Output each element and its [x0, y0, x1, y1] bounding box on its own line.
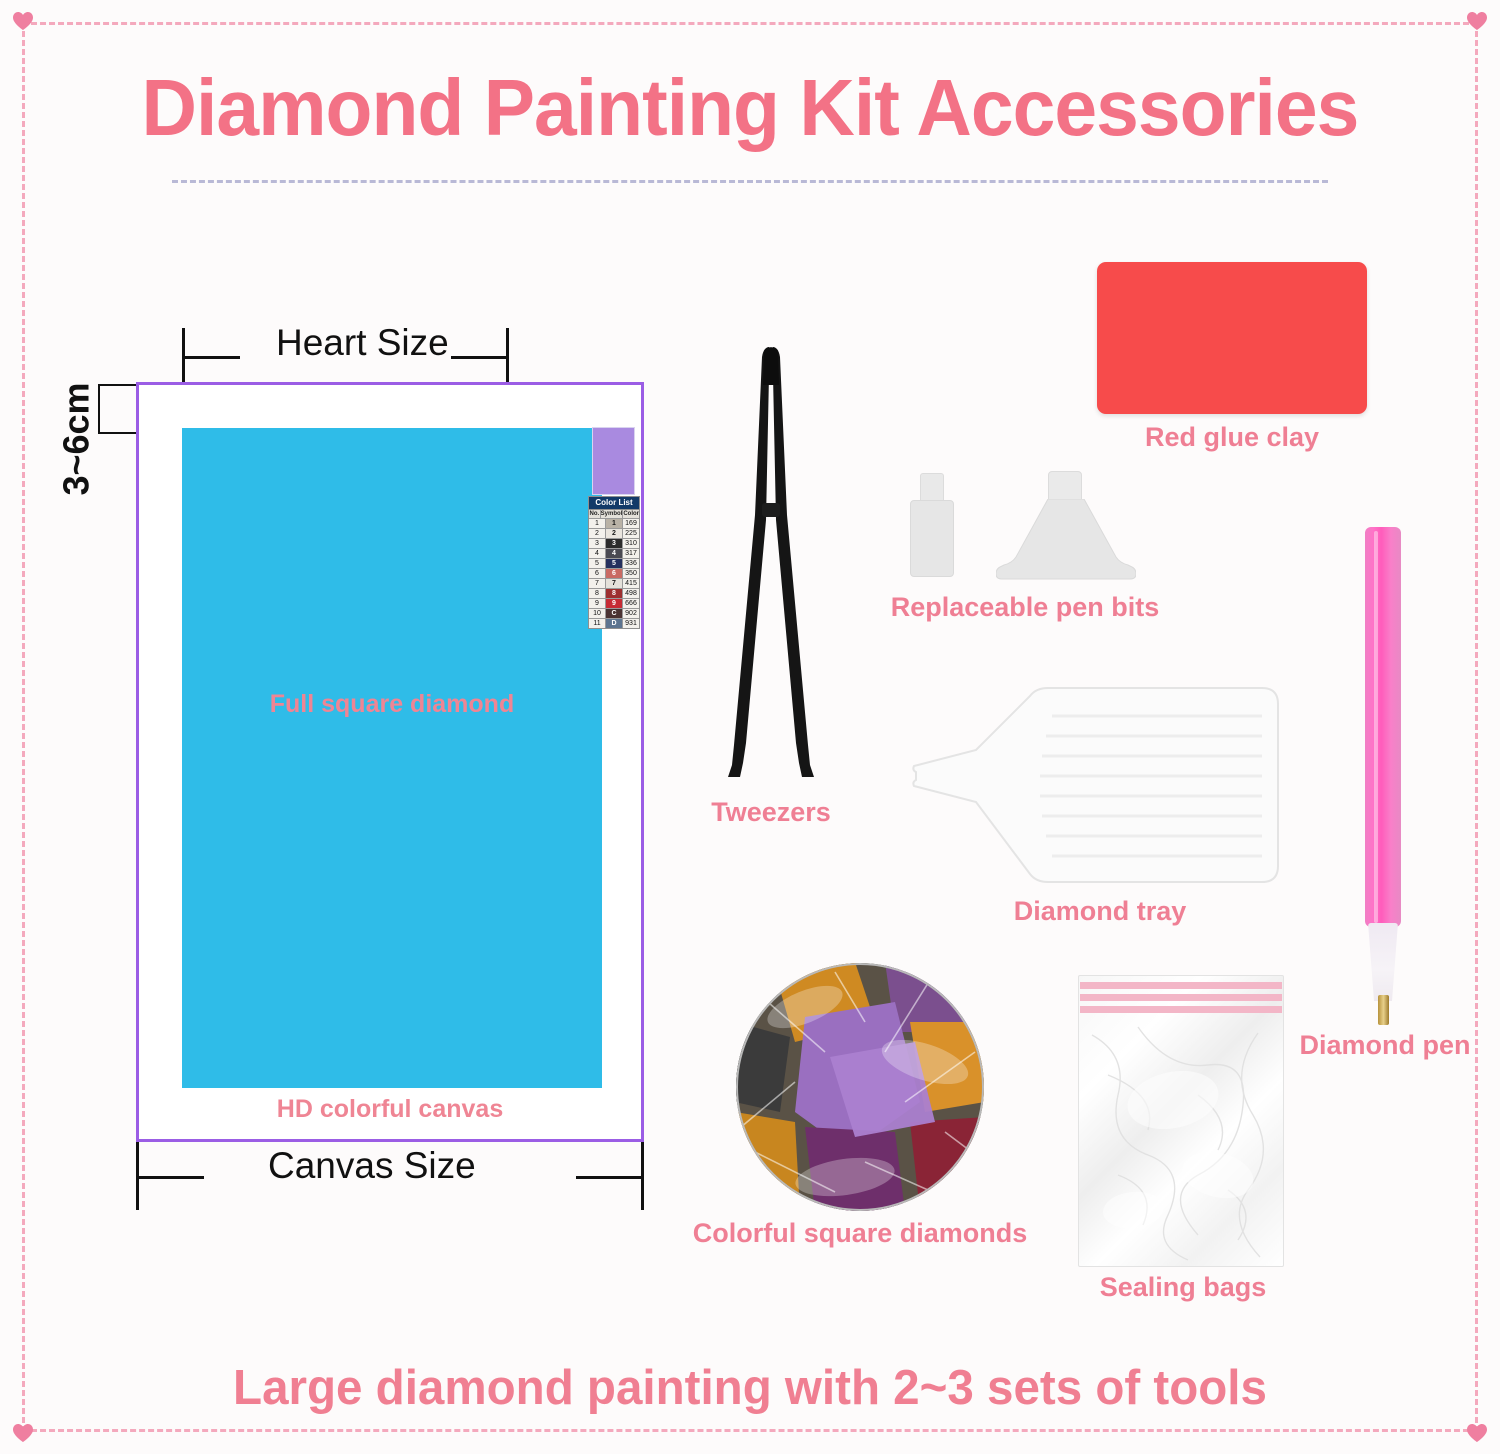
diamond-pen-label: Diamond pen: [1280, 1030, 1490, 1061]
color-row-symbol: 5: [606, 559, 623, 568]
color-row-symbol: 8: [606, 589, 623, 598]
margin-label: 3~6cm: [56, 382, 98, 495]
col-header-color: Color: [623, 510, 639, 518]
color-list-row: 77415: [589, 578, 639, 588]
color-row-no: 9: [589, 599, 606, 608]
red-glue-clay-image: [1097, 262, 1367, 414]
color-row-no: 6: [589, 569, 606, 578]
tweezers-image: [706, 345, 836, 785]
color-row-color: 310: [623, 539, 639, 548]
footer-tagline: Large diamond painting with 2~3 sets of …: [23, 1360, 1478, 1416]
color-list-row: 88498: [589, 588, 639, 598]
page-title: Diamond Painting Kit Accessories: [30, 62, 1470, 154]
color-list-row: 11169: [589, 518, 639, 528]
color-list-row: 66350: [589, 568, 639, 578]
col-header-symbol: Symbol: [601, 510, 624, 518]
color-list-row: 44317: [589, 548, 639, 558]
printed-canvas-area: [182, 428, 602, 1088]
color-row-no: 7: [589, 579, 606, 588]
color-list-row: 22225: [589, 528, 639, 538]
tweezers-label: Tweezers: [706, 797, 836, 828]
color-list-table: Color List No. Symbol Color 111692222533…: [588, 496, 640, 629]
sealing-bags-label: Sealing bags: [1058, 1272, 1308, 1303]
pen-bit-large: [996, 471, 1136, 581]
color-row-no: 1: [589, 519, 606, 528]
col-header-no: No.: [589, 510, 601, 518]
color-list-row: 33310: [589, 538, 639, 548]
canvas-size-label: Canvas Size: [268, 1145, 476, 1187]
full-square-diamond-label: Full square diamond: [182, 690, 602, 719]
pen-bits-label: Replaceable pen bits: [880, 592, 1170, 623]
color-row-no: 4: [589, 549, 606, 558]
color-row-no: 2: [589, 529, 606, 538]
color-row-color: 415: [623, 579, 639, 588]
color-row-symbol: D: [606, 619, 623, 628]
color-row-no: 10: [589, 609, 606, 618]
color-row-symbol: 9: [606, 599, 623, 608]
colorful-square-diamonds-image: [735, 962, 985, 1212]
color-row-no: 8: [589, 589, 606, 598]
color-row-symbol: C: [606, 609, 623, 618]
diamond-tray-label: Diamond tray: [910, 896, 1290, 927]
color-row-color: 498: [623, 589, 639, 598]
color-list-title: Color List: [589, 497, 639, 509]
color-row-color: 931: [623, 619, 639, 628]
color-row-color: 666: [623, 599, 639, 608]
color-row-no: 3: [589, 539, 606, 548]
dim-tick-margin: [98, 384, 100, 434]
heart-icon: [1466, 11, 1488, 31]
color-list-header-row: No. Symbol Color: [589, 509, 639, 518]
color-row-color: 317: [623, 549, 639, 558]
color-list-row: 11D931: [589, 618, 639, 628]
color-row-color: 169: [623, 519, 639, 528]
color-row-color: 225: [623, 529, 639, 538]
color-row-symbol: 3: [606, 539, 623, 548]
heart-icon: [12, 1423, 34, 1443]
heart-icon: [1466, 1423, 1488, 1443]
pen-bit-small: [910, 473, 954, 577]
lavender-swatch-block: [592, 427, 635, 495]
replaceable-pen-bits-image: [900, 465, 1150, 585]
dim-arm-canvas-left: [136, 1176, 204, 1179]
dim-arm-right: [451, 356, 509, 359]
color-list-row: 55336: [589, 558, 639, 568]
color-row-no: 5: [589, 559, 606, 568]
heart-icon: [12, 11, 34, 31]
color-row-color: 350: [623, 569, 639, 578]
color-row-symbol: 4: [606, 549, 623, 558]
color-list-row: 99666: [589, 598, 639, 608]
color-row-symbol: 6: [606, 569, 623, 578]
heart-size-label: Heart Size: [276, 322, 449, 364]
red-glue-clay-label: Red glue clay: [1097, 422, 1367, 453]
color-row-no: 11: [589, 619, 606, 628]
color-list-row: 10C902: [589, 608, 639, 618]
diamond-pen-image: [1355, 527, 1415, 1027]
color-row-symbol: 2: [606, 529, 623, 538]
color-row-symbol: 7: [606, 579, 623, 588]
hd-colorful-canvas-label: HD colorful canvas: [136, 1095, 644, 1124]
dim-arm-left: [182, 356, 240, 359]
color-row-symbol: 1: [606, 519, 623, 528]
diamond-tray-image: [910, 680, 1290, 900]
title-divider: [172, 180, 1328, 183]
dim-arm-canvas-right: [576, 1176, 644, 1179]
color-list-rows: 1116922225333104431755336663507741588498…: [589, 518, 639, 628]
colorful-square-diamonds-label: Colorful square diamonds: [690, 1218, 1030, 1249]
canvas-size-diagram: Heart Size 3~6cm Full square diamond HD …: [36, 300, 676, 1210]
infographic-page: Diamond Painting Kit Accessories Heart S…: [0, 0, 1500, 1454]
color-row-color: 902: [623, 609, 639, 618]
color-row-color: 336: [623, 559, 639, 568]
sealing-bags-image: [1078, 975, 1284, 1267]
